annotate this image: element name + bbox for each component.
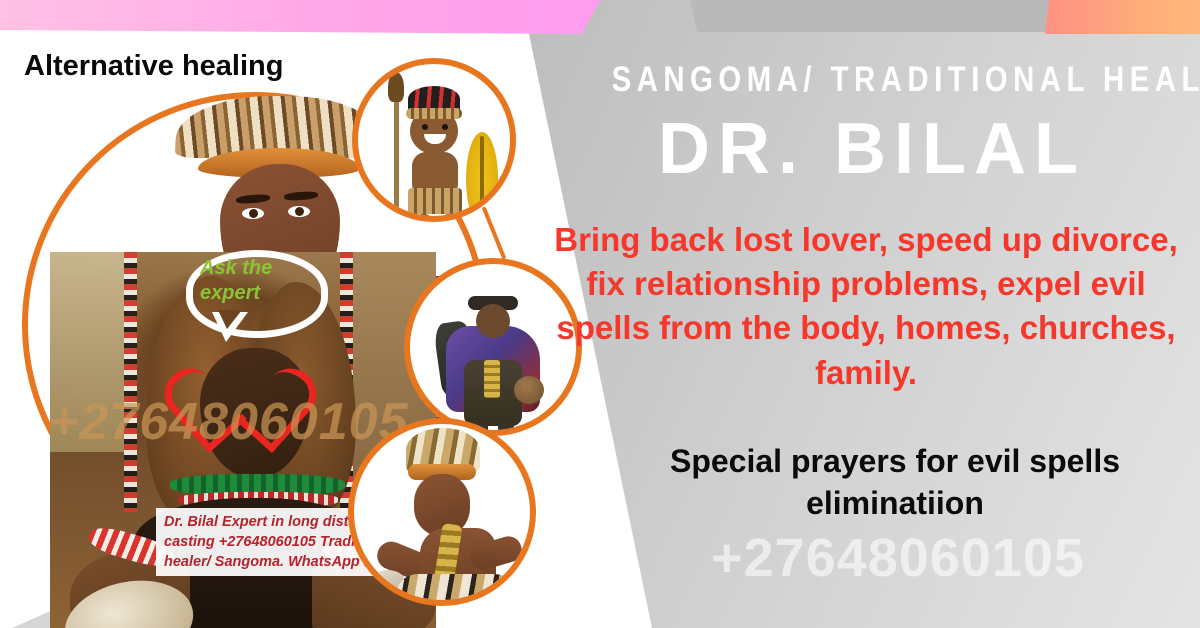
photo-bead-strand-left [124,252,137,512]
spear-head-icon [388,72,404,102]
ghost-phone-number: +27648060105 [600,527,1196,589]
poster-canvas: Ask the expert +27648060105 Dr. Bilal Ex… [0,0,1200,628]
page-title: DR. BILAL [562,108,1182,190]
services-copy: Bring back lost lover, speed up divorce,… [540,218,1192,395]
figure-pupil-left [249,209,258,218]
speech-bubble-text: Ask the expert [200,256,308,306]
top-orange-bar [1045,0,1200,34]
figure-pupil-right [295,207,304,216]
speech-bubble-tail-inner [218,310,242,329]
warrior-skirt [408,188,462,214]
warrior-headband [406,108,462,119]
traveler-head [476,304,510,338]
warrior-eye-right [442,124,448,130]
spear-shaft-icon [394,82,399,222]
warrior-eye-left [422,124,428,130]
special-prayers-copy: Special prayers for evil spells eliminat… [600,440,1190,524]
headline-eyebrow: SANGOMA/ TRADITIONAL HEALER [612,60,1133,100]
traveler-tie [484,360,500,398]
circle-zulu-warrior [352,58,516,222]
page-eyebrow-label: Alternative healing [24,50,283,83]
circle-crouching-dancer [348,418,536,606]
warrior-shield-spine [480,136,484,222]
traveler-leg-right [498,422,514,436]
